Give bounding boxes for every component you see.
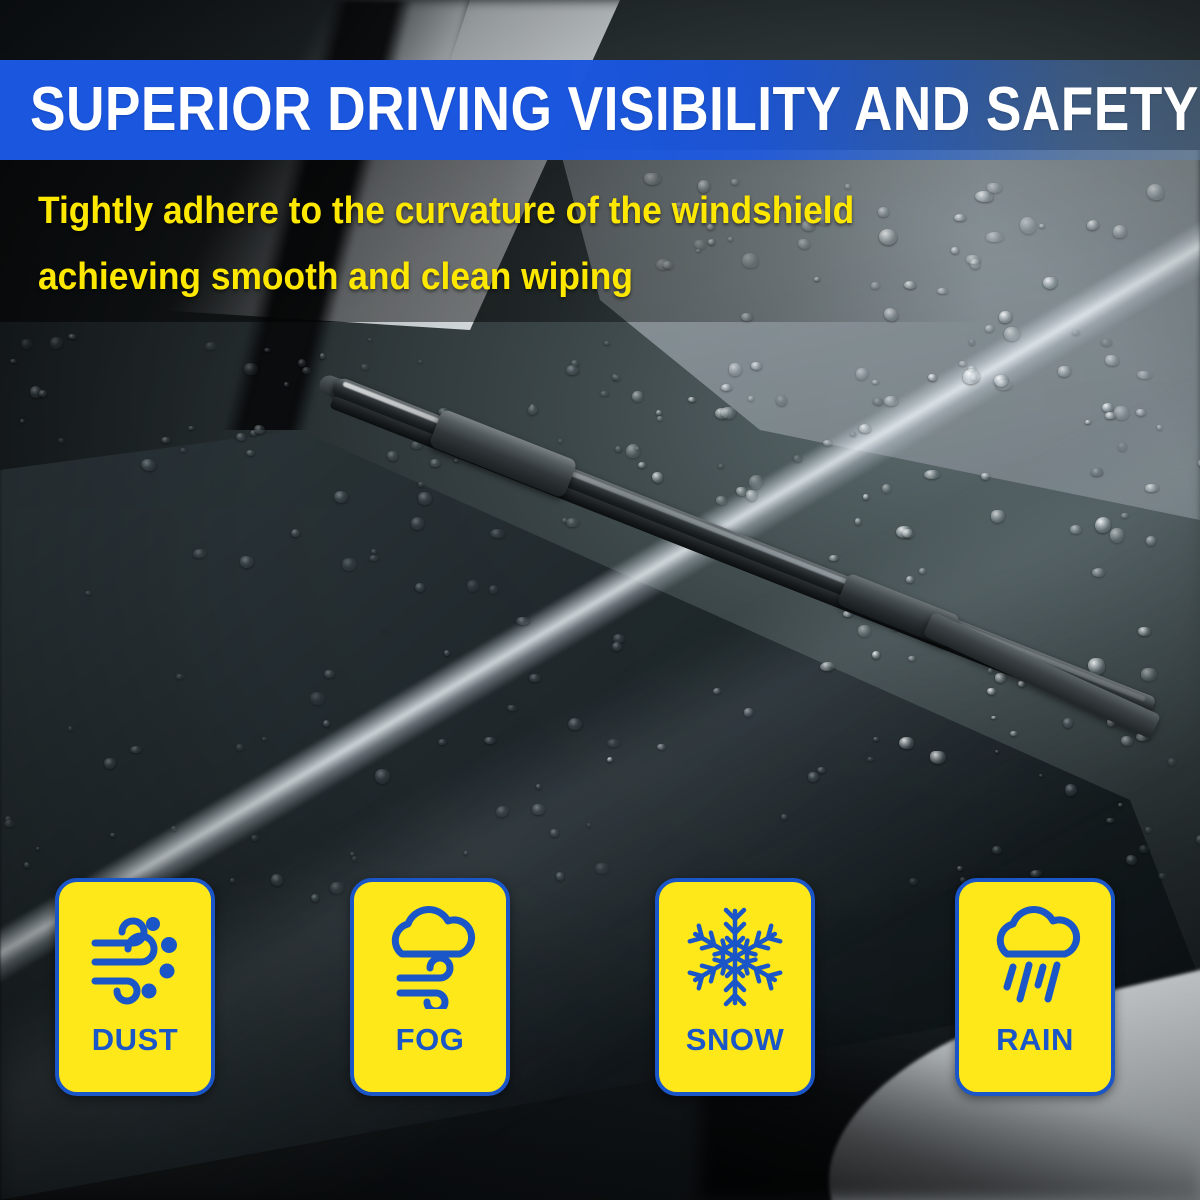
feature-badge-dust: DUST xyxy=(55,878,215,1096)
subtitle-line-2: achieving smooth and clean wiping xyxy=(38,244,931,310)
cloud-rain-icon xyxy=(983,898,1087,1016)
feature-badge-label: RAIN xyxy=(996,1022,1074,1058)
cloud-fog-icon xyxy=(378,898,482,1016)
headline-text: SUPERIOR DRIVING VISIBILITY AND SAFETY xyxy=(30,79,1199,141)
feature-badge-label: FOG xyxy=(396,1022,465,1058)
feature-badge-rain: RAIN xyxy=(955,878,1115,1096)
feature-badge-label: DUST xyxy=(92,1022,178,1058)
wind-dust-particles-icon xyxy=(83,898,187,1016)
subtitle-block: Tightly adhere to the curvature of the w… xyxy=(38,178,998,310)
feature-badge-row: DUST FOG xyxy=(0,878,1200,1098)
subtitle-line-1: Tightly adhere to the curvature of the w… xyxy=(38,178,931,244)
headline-banner: SUPERIOR DRIVING VISIBILITY AND SAFETY xyxy=(0,60,1200,160)
feature-badge-label: SNOW xyxy=(686,1022,784,1058)
snowflake-icon xyxy=(681,898,789,1016)
feature-badge-snow: SNOW xyxy=(655,878,815,1096)
product-feature-image: SUPERIOR DRIVING VISIBILITY AND SAFETY T… xyxy=(0,0,1200,1200)
feature-badge-fog: FOG xyxy=(350,878,510,1096)
